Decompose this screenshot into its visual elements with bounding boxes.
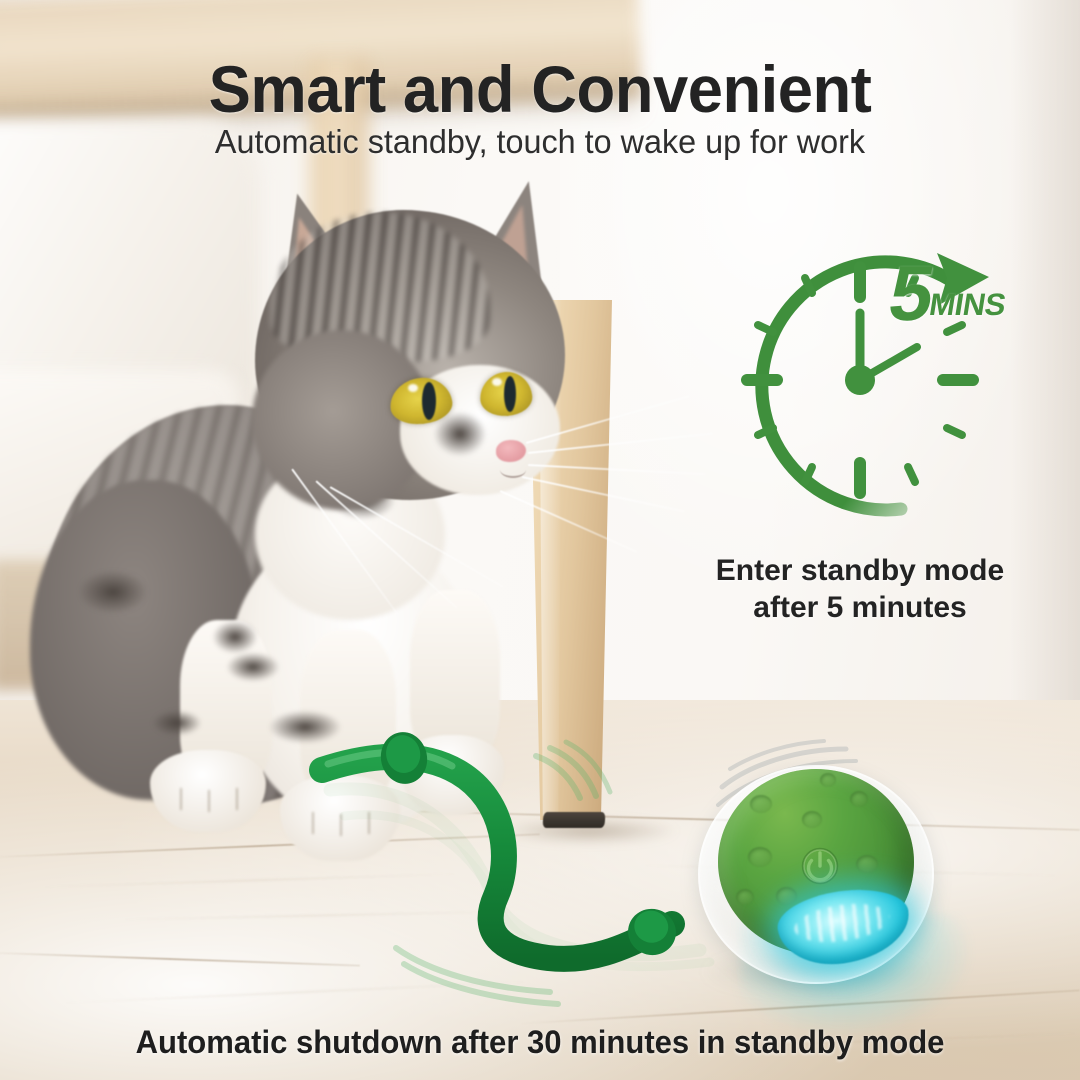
cat-toe-line <box>236 788 238 810</box>
power-button-icon[interactable] <box>798 843 842 887</box>
clock-center-hub <box>845 365 875 395</box>
ball-dimple <box>820 773 836 787</box>
cat-pupil-right <box>504 376 516 412</box>
timer-value-label: 5 MINS <box>885 262 1012 326</box>
cat-eye-glint-left <box>408 384 418 392</box>
timer-caption-line1: Enter standby mode <box>640 552 1080 589</box>
ball-dimple <box>776 887 797 905</box>
timer-caption-line2: after 5 minutes <box>640 589 1080 626</box>
ball-dimple <box>850 791 868 807</box>
cat-toe-line <box>208 790 210 812</box>
timer-unit: MINS <box>926 289 1007 326</box>
cat-eye-glint-right <box>492 378 502 386</box>
cat-eye-patch <box>434 412 486 456</box>
cat-marking <box>226 652 280 682</box>
ball-dimple <box>736 889 754 905</box>
cat-pupil-left <box>422 382 436 420</box>
ball-dimple <box>750 795 772 813</box>
cat-marking <box>78 570 148 614</box>
page-subtitle: Automatic standby, touch to wake up for … <box>11 124 1069 160</box>
page-title: Smart and Convenient <box>22 56 1059 123</box>
product-feature-banner: 5 MINS Smart and Convenient Automatic st… <box>0 0 1080 1080</box>
cat-marking <box>152 710 202 736</box>
cat-marking <box>212 620 258 654</box>
photo-scene <box>0 0 1080 1080</box>
ball-dimple <box>856 855 878 873</box>
cat-toe-line <box>180 788 182 810</box>
ball-dimple <box>748 847 772 867</box>
smart-ball-toy[interactable] <box>690 755 940 990</box>
bottom-caption: Automatic shutdown after 30 minutes in s… <box>16 1025 1064 1060</box>
timer-caption: Enter standby mode after 5 minutes <box>640 552 1080 626</box>
ball-dimple <box>802 811 822 828</box>
